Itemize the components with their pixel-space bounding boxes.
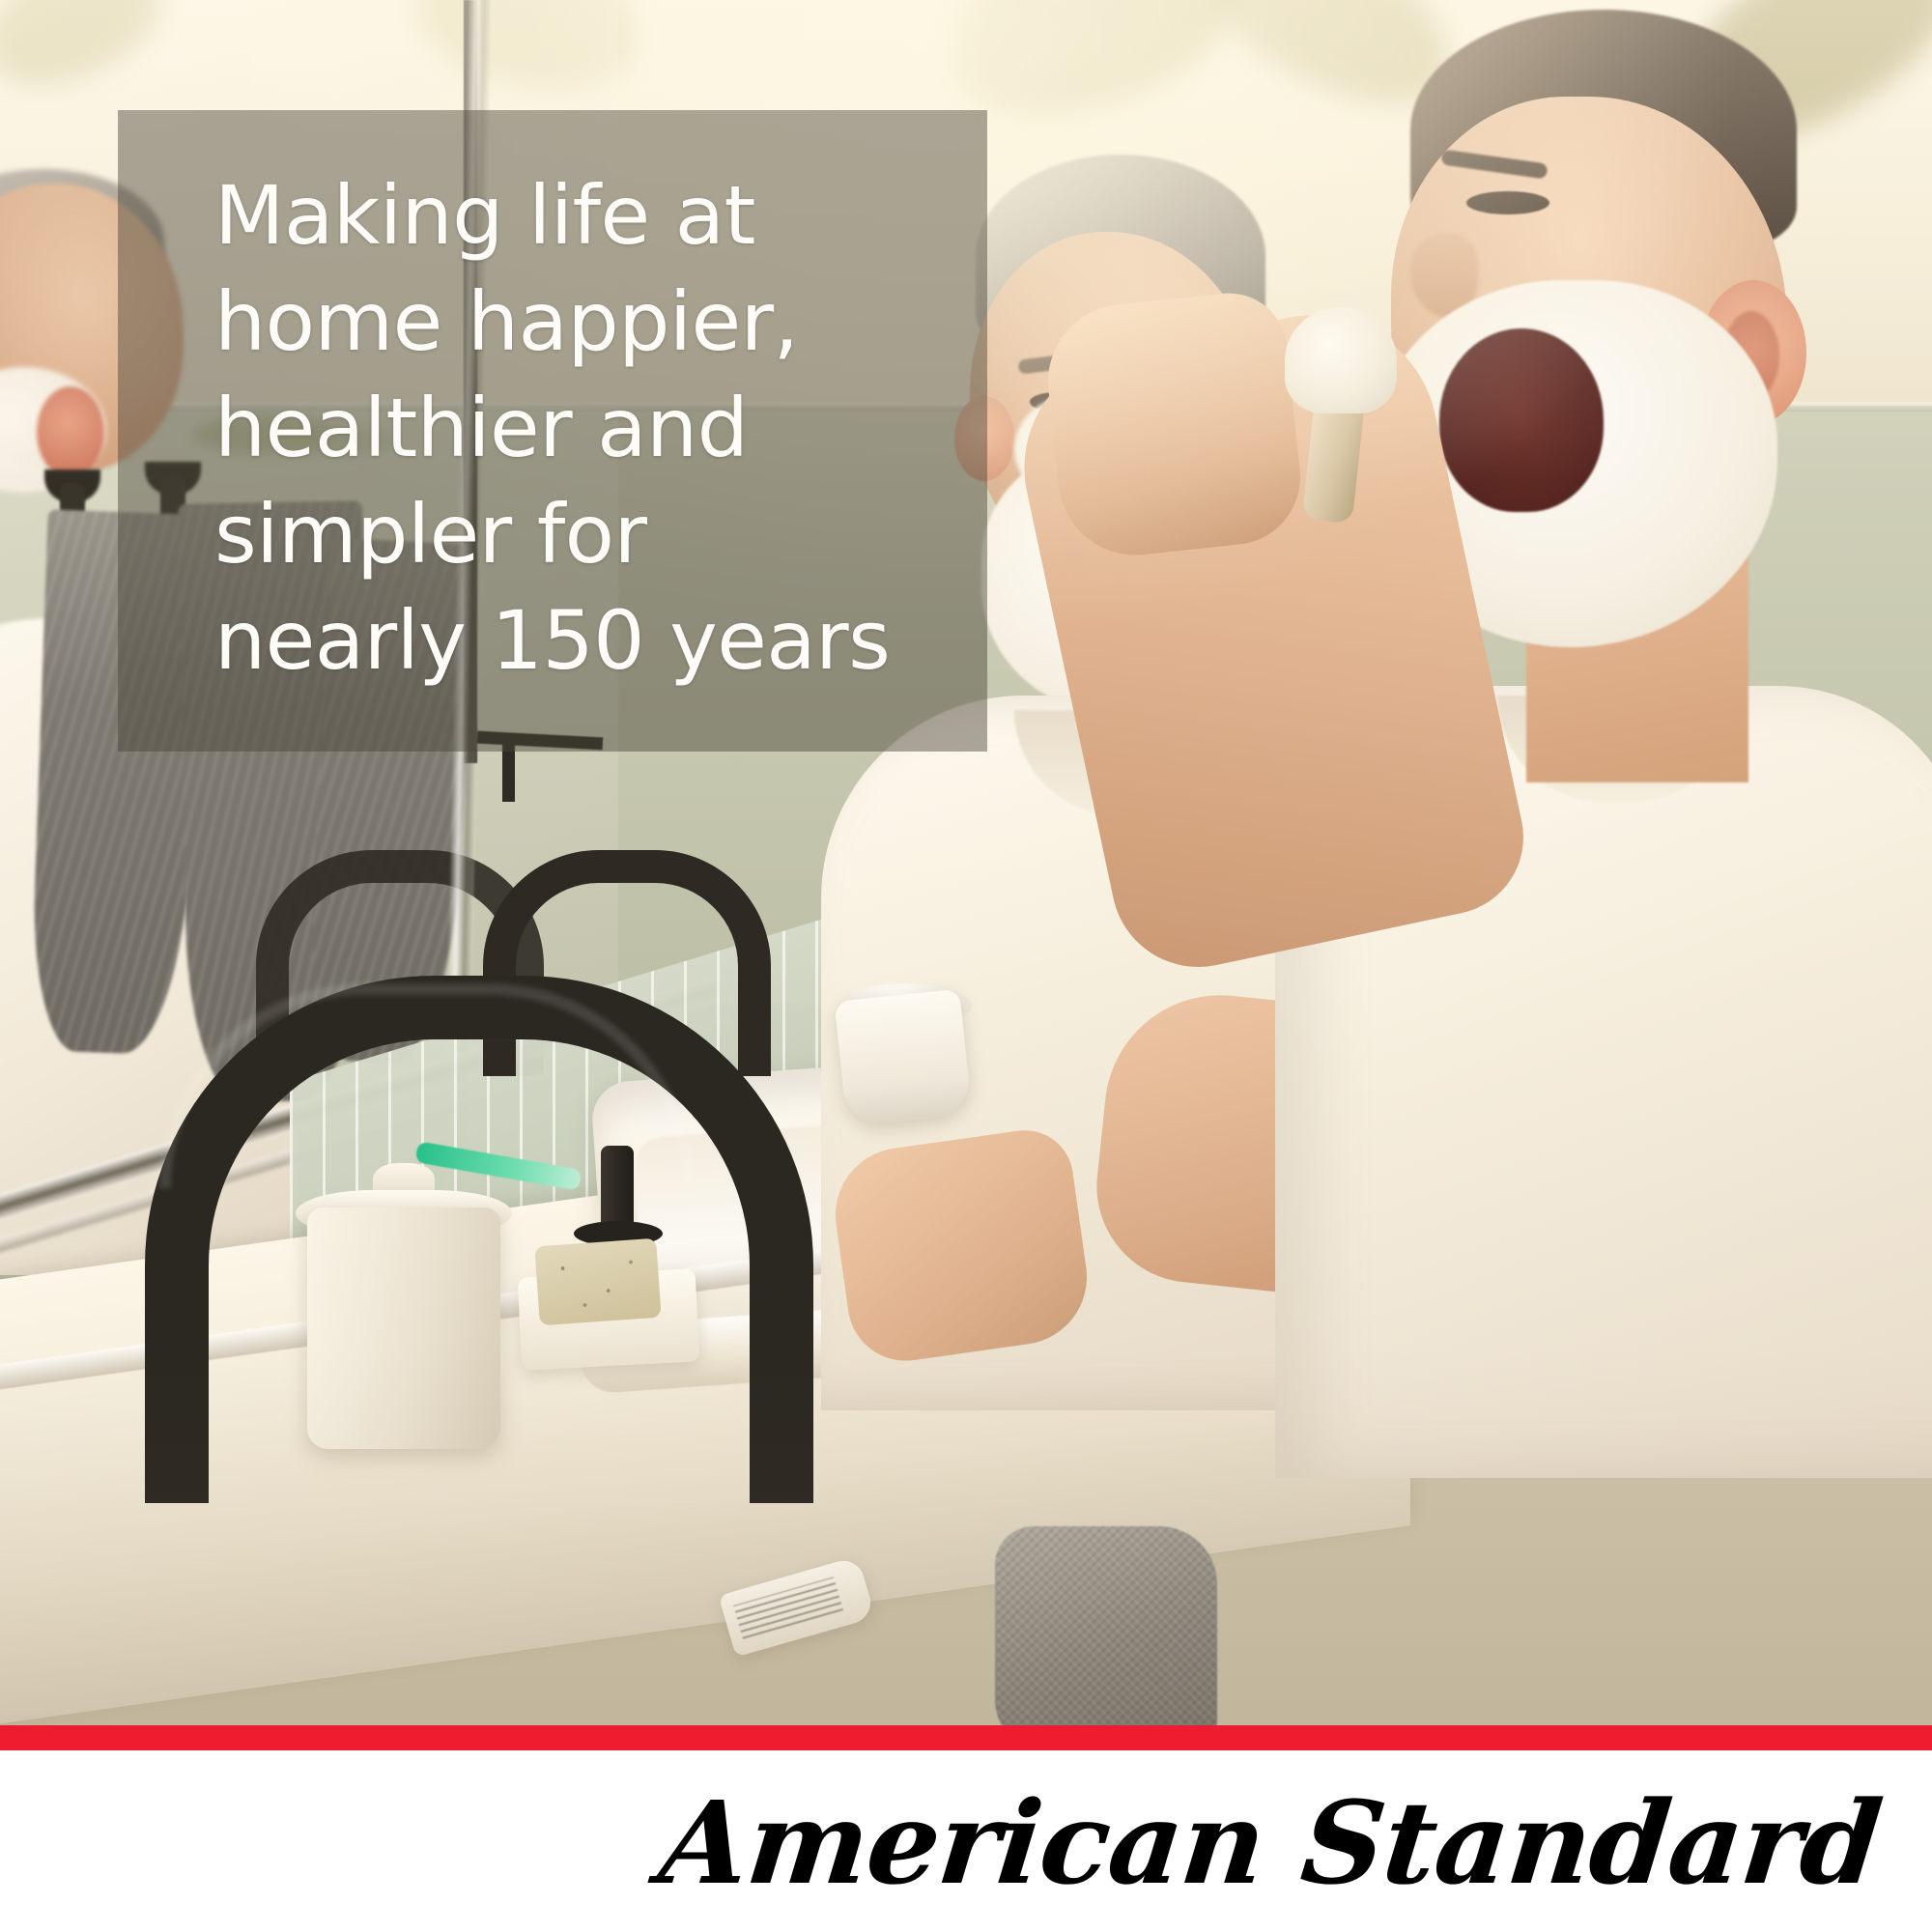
shaving-cream-cup [835, 989, 973, 1127]
father-hand [827, 1124, 1095, 1369]
red-accent-bar [0, 1725, 1932, 1750]
washcloth [995, 1526, 1217, 1725]
reflected-man-ear [37, 386, 104, 478]
headline-line-5: nearly 150 years [214, 587, 949, 694]
bathroom-photo: Making life at home happier, healthier a… [0, 0, 1932, 1725]
headline-line-4: simpler for [214, 481, 949, 587]
son-open-mouth [1439, 328, 1604, 512]
headline-text: Making life at home happier, healthier a… [214, 162, 949, 694]
headline-line-1: Making life at [214, 162, 949, 269]
towel-rod-hook [502, 744, 515, 802]
advertisement-creative: Making life at home happier, healthier a… [0, 0, 1932, 1932]
shaving-brush-bristles [1285, 307, 1397, 413]
headline-line-2: home happier, [214, 269, 949, 375]
son-hand [1040, 288, 1307, 563]
son-eye [1466, 191, 1549, 214]
ceramic-canister [307, 1207, 500, 1449]
son-figure [1381, 10, 1932, 1459]
headline-line-3: healthier and [214, 375, 949, 481]
soap-bar [534, 1238, 661, 1326]
american-standard-logo[interactable]: American Standard [653, 1776, 1887, 1910]
